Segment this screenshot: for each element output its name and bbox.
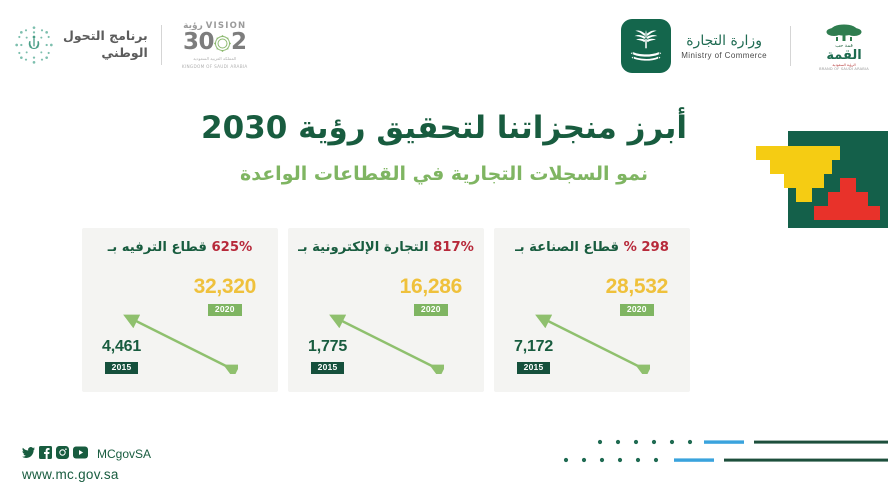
- vision-2030-number-right: 30: [183, 31, 214, 54]
- stat-card-industry-2015-badge: 2015: [517, 362, 551, 374]
- stat-card-entertainment[interactable]: 625% قطاع الترفيه بـ 32,320 2020: [82, 228, 278, 392]
- ministry-divider: [790, 26, 791, 66]
- stat-card-industry-header: 298 % قطاع الصناعة بـ: [494, 240, 690, 255]
- national-transformation-program-logo: برنامج التحول الوطني: [14, 25, 148, 65]
- stat-card-entertainment-2020-block: 32,320 2020: [194, 276, 256, 316]
- stat-card-industry-2015-block: 7,172 2015: [514, 339, 553, 374]
- qimma-tree-icon: [821, 22, 867, 42]
- stat-card-ecommerce-sector: التجارة الإلكترونية بـ: [298, 240, 428, 255]
- ministry-wordmark: وزارة التجارة Ministry of Commerce: [681, 33, 767, 60]
- vision-2030-ornament-icon: [214, 34, 231, 51]
- vision-2030-number-left: 2: [231, 31, 247, 54]
- stat-card-ecommerce-2020-block: 16,286 2020: [400, 276, 462, 316]
- instagram-icon[interactable]: [56, 444, 69, 463]
- stats-card-group: 298 % قطاع الصناعة بـ 28,532 2020: [78, 228, 690, 392]
- stat-card-ecommerce-percent: 817%: [433, 240, 474, 255]
- stat-card-entertainment-2020-value: 32,320: [194, 276, 256, 297]
- right-logo-group: قمة حب القمة الرؤية السعودية BRAND OF SA…: [621, 16, 874, 76]
- stat-card-ecommerce-2015-value: 1,775: [308, 339, 347, 355]
- qimma-logo: قمة حب القمة الرؤية السعودية BRAND OF SA…: [814, 22, 874, 71]
- ntp-line2: الوطني: [63, 45, 148, 62]
- stat-card-entertainment-sector: قطاع الترفيه بـ: [108, 240, 207, 255]
- vision-2030-number: 2 30: [183, 31, 247, 54]
- website-url[interactable]: www.mc.gov.sa: [22, 467, 151, 482]
- vision-2030-logo: VISION رؤية 2: [175, 21, 255, 69]
- stat-card-industry[interactable]: 298 % قطاع الصناعة بـ 28,532 2020: [494, 228, 690, 392]
- stat-card-ecommerce-2020-value: 16,286: [400, 276, 462, 297]
- stat-card-ecommerce-header: 817% التجارة الإلكترونية بـ: [288, 240, 484, 255]
- stat-card-entertainment-header: 625% قطاع الترفيه بـ: [82, 240, 278, 255]
- ntp-line1: برنامج التحول: [63, 28, 148, 45]
- stat-card-industry-sector: قطاع الصناعة بـ: [515, 240, 619, 255]
- stat-card-entertainment-percent: 625%: [212, 240, 253, 255]
- stat-card-industry-2015-value: 7,172: [514, 339, 553, 355]
- youtube-icon[interactable]: [73, 444, 88, 463]
- twitter-icon[interactable]: [22, 444, 35, 463]
- decorative-dotted-lines: [558, 430, 888, 476]
- ministry-name-en: Ministry of Commerce: [681, 51, 767, 60]
- vision-2030-subtitle-en: KINGDOM OF SAUDI ARABIA: [182, 64, 248, 70]
- ministry-name-ar: وزارة التجارة: [681, 33, 767, 49]
- social-handle[interactable]: MCgovSA: [97, 447, 151, 461]
- ntp-emblem-ornament-icon: [14, 25, 54, 65]
- stat-card-industry-2020-value: 28,532: [606, 276, 668, 297]
- infographic-canvas: VISION رؤية 2: [0, 0, 888, 500]
- ntp-text: برنامج التحول الوطني: [63, 28, 148, 62]
- facebook-icon[interactable]: [39, 444, 52, 463]
- footer-contact: MCgovSA www.mc.gov.sa: [22, 444, 151, 482]
- stat-card-entertainment-2015-block: 4,461 2015: [102, 339, 141, 374]
- social-links-row: MCgovSA: [22, 444, 151, 463]
- stat-card-ecommerce-2015-badge: 2015: [311, 362, 345, 374]
- left-logo-group: VISION رؤية 2: [14, 16, 255, 74]
- stat-card-ecommerce[interactable]: 817% التجارة الإلكترونية بـ 16,286 2020: [288, 228, 484, 392]
- decorative-steps-graphic: [748, 128, 888, 230]
- stat-card-ecommerce-2015-block: 1,775 2015: [308, 339, 347, 374]
- logo-divider: [161, 25, 162, 65]
- vision-2030-subtitle-ar: المملكة العربية السعودية: [193, 56, 236, 62]
- stat-card-entertainment-2015-badge: 2015: [105, 362, 139, 374]
- stat-card-industry-2020-block: 28,532 2020: [606, 276, 668, 316]
- qimma-big-text: القمة: [826, 49, 861, 62]
- qimma-gray-text: BRAND OF SAUDI ARABIA: [819, 67, 869, 71]
- stat-card-entertainment-2015-value: 4,461: [102, 339, 141, 355]
- stat-card-industry-percent: 298 %: [624, 240, 669, 255]
- saudi-emblem-icon: [621, 19, 671, 73]
